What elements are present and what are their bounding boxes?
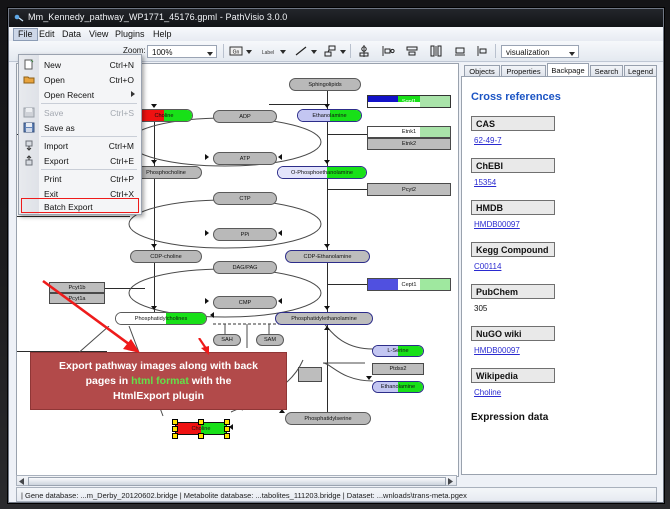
align-center-icon[interactable] (357, 44, 371, 58)
arrow-icon (324, 306, 330, 310)
align-stack-icon[interactable] (405, 44, 419, 58)
menu-item-export[interactable]: Export Ctrl+E (20, 153, 140, 168)
arrow-icon (278, 230, 282, 236)
geneproduct-dropdown-icon[interactable] (246, 50, 252, 54)
arrow-icon (324, 104, 330, 108)
visualization-value: visualization (506, 48, 550, 57)
canvas-hscrollbar[interactable] (16, 475, 457, 486)
shape-tool-icon[interactable] (323, 44, 337, 58)
db-label-pubchem: PubChem (471, 284, 555, 299)
reaction-loop-2 (125, 198, 325, 250)
pathway-node[interactable]: DAG/PAG (213, 261, 277, 274)
db-label-chebi: ChEBI (471, 158, 555, 173)
arrow-icon (151, 104, 157, 108)
pathvisio-window: Mm_Kennedy_pathway_WP1771_45176.gpml - P… (8, 8, 664, 503)
pathway-node[interactable]: CDP-Ethanolamine (285, 250, 370, 263)
pathway-node[interactable]: Ethanolamine (297, 109, 362, 122)
gene-node[interactable]: Etnk2 (367, 138, 451, 150)
shape-dropdown-icon[interactable] (340, 50, 346, 54)
menu-edit[interactable]: Edit (35, 28, 59, 40)
arrow-icon (151, 244, 157, 248)
pathway-node[interactable]: Phosphatidylserine (285, 412, 371, 425)
desktop-background: Mm_Kennedy_pathway_WP1771_45176.gpml - P… (0, 0, 670, 509)
selection-handle[interactable] (172, 419, 178, 425)
export-icon (23, 155, 35, 166)
arrow-icon (151, 160, 157, 164)
status-text: | Gene database: ...m_Derby_20120602.bri… (21, 491, 467, 500)
menu-item-new[interactable]: New Ctrl+N (20, 57, 140, 72)
scroll-right-icon[interactable] (448, 478, 454, 485)
pathway-node[interactable]: SAM (256, 334, 284, 346)
label-dropdown-icon[interactable] (280, 50, 286, 54)
pathway-node[interactable]: SAH (213, 334, 241, 346)
db-label-hmdb: HMDB (471, 200, 555, 215)
selection-handle[interactable] (172, 433, 178, 439)
annotation-line3: HtmlExport plugin (113, 390, 204, 402)
menu-bar: File Edit Data View Plugins Help (9, 27, 663, 42)
arrow-icon (324, 326, 330, 330)
annotation-arrow-icon (195, 338, 217, 358)
zoom-combo[interactable]: 100% (147, 45, 217, 58)
align-bottom-icon[interactable] (453, 44, 467, 58)
title-bar: Mm_Kennedy_pathway_WP1771_45176.gpml - P… (9, 9, 663, 28)
side-panel: Objects Properties Backpage Search Legen… (461, 63, 657, 475)
chevron-down-icon (207, 52, 213, 56)
tab-backpage[interactable]: Backpage (547, 63, 589, 77)
db-value-pubchem: 305 (474, 304, 652, 313)
pathway-node[interactable]: CDP-choline (130, 250, 202, 263)
annotation-arrow-icon (41, 279, 151, 364)
pathway-node[interactable]: CMP (213, 296, 277, 309)
import-icon (23, 140, 35, 151)
db-value-chebi[interactable]: 15354 (474, 178, 652, 187)
pathway-node[interactable]: Phosphatidylethanolamine (275, 312, 373, 325)
arrow-icon (278, 154, 282, 160)
annotation-highlight: html format (131, 375, 189, 387)
distribute-icon[interactable] (429, 44, 443, 58)
folder-open-icon (23, 74, 35, 85)
align-left-icon[interactable] (381, 44, 395, 58)
selection-handle[interactable] (198, 433, 204, 439)
menu-data[interactable]: Data (58, 28, 85, 40)
menu-item-open-recent[interactable]: Open Recent (20, 87, 140, 102)
annotation-line2-a: pages in (86, 375, 132, 387)
align-right-icon[interactable] (475, 44, 489, 58)
db-value-nugo[interactable]: HMDB00097 (474, 346, 652, 355)
pathway-node[interactable]: Choline (135, 109, 193, 122)
gene-node[interactable]: Cept1 (367, 278, 451, 291)
file-menu-popup: New Ctrl+N Open Ctrl+O Open Recent Save … (18, 54, 142, 215)
svg-text:Gn: Gn (233, 50, 240, 56)
new-file-icon (23, 59, 35, 70)
interaction-anchor[interactable] (298, 367, 322, 382)
gene-node[interactable]: Etnk1 (367, 126, 451, 138)
arrow-icon (278, 298, 282, 304)
submenu-arrow-icon (131, 91, 135, 97)
line-tool-icon[interactable] (294, 44, 308, 58)
backpage-content: Cross references CAS 62-49-7 ChEBI 15354… (461, 76, 657, 475)
menu-plugins[interactable]: Plugins (111, 28, 149, 40)
db-label-wikipedia: Wikipedia (471, 368, 555, 383)
pathway-node[interactable]: ADP (213, 110, 277, 123)
menu-view[interactable]: View (85, 28, 112, 40)
selection-handle[interactable] (224, 433, 230, 439)
arrow-icon (205, 154, 209, 160)
arrow-icon (324, 244, 330, 248)
batch-export-highlight (21, 198, 139, 213)
pathway-node[interactable]: CTP (213, 192, 277, 205)
annotation-text: Export pathway images along with back pa… (53, 359, 264, 404)
line-dropdown-icon[interactable] (311, 50, 317, 54)
arrow-icon (205, 298, 209, 304)
gene-node[interactable]: Sgpl1 (367, 95, 451, 108)
pathway-node[interactable]: ATP (213, 152, 277, 165)
zoom-value: 100% (152, 48, 172, 57)
geneproduct-tool-icon[interactable]: Gn (229, 44, 243, 58)
pathvisio-icon (14, 13, 24, 23)
db-label-nugo: NuGO wiki (471, 326, 555, 341)
menu-help[interactable]: Help (149, 28, 176, 40)
gene-node[interactable]: Pcyt2 (367, 183, 451, 196)
arrow-icon (210, 312, 214, 318)
menu-item-save: Save Ctrl+S (20, 105, 140, 120)
arrow-icon (366, 376, 372, 380)
visualization-combo[interactable]: visualization (501, 45, 579, 58)
pathway-node[interactable]: O-Phosphoethanolamine (277, 166, 367, 179)
db-value-hmdb[interactable]: HMDB00097 (474, 220, 652, 229)
selection-handle[interactable] (172, 426, 178, 432)
cross-references-heading: Cross references (471, 91, 652, 103)
expression-data-heading: Expression data (471, 412, 652, 423)
save-icon (23, 107, 35, 118)
gene-node[interactable]: Ptdss2 (372, 363, 424, 375)
pathway-node[interactable]: L-Serine (372, 345, 424, 357)
selection-handle[interactable] (224, 426, 230, 432)
db-value-wikipedia[interactable]: Choline (474, 388, 652, 397)
hscroll-thumb[interactable] (28, 477, 446, 486)
arrow-icon (324, 160, 330, 164)
svg-text:Label: Label (262, 50, 274, 56)
db-value-kegg[interactable]: C00114 (474, 262, 652, 271)
scroll-left-icon[interactable] (19, 478, 25, 485)
selection-handle[interactable] (224, 419, 230, 425)
selection-handle[interactable] (198, 419, 204, 425)
status-bar: | Gene database: ...m_Derby_20120602.bri… (16, 487, 657, 502)
db-value-cas[interactable]: 62-49-7 (474, 136, 652, 145)
pathway-node[interactable]: Sphingolipids (289, 78, 361, 91)
save-as-icon (23, 122, 35, 133)
menu-item-open[interactable]: Open Ctrl+O (20, 72, 140, 87)
annotation-line2-b: with the (189, 375, 232, 387)
window-title: Mm_Kennedy_pathway_WP1771_45176.gpml - P… (28, 12, 287, 22)
menu-item-save-as[interactable]: Save as (20, 120, 140, 135)
menu-item-print[interactable]: Print Ctrl+P (20, 171, 140, 186)
db-label-cas: CAS (471, 116, 555, 131)
arrow-icon (205, 230, 209, 236)
menu-file[interactable]: File (13, 28, 38, 41)
arrow-icon (151, 306, 157, 310)
db-label-kegg: Kegg Compound (471, 242, 555, 257)
pathway-node[interactable]: PPi (213, 228, 277, 241)
chevron-down-icon (569, 52, 575, 56)
menu-item-import[interactable]: Import Ctrl+M (20, 138, 140, 153)
panel-tabs: Objects Properties Backpage Search Legen… (461, 63, 657, 77)
label-tool-icon[interactable]: Label (259, 44, 277, 58)
pathway-node[interactable]: Ethanolamine (372, 381, 424, 393)
